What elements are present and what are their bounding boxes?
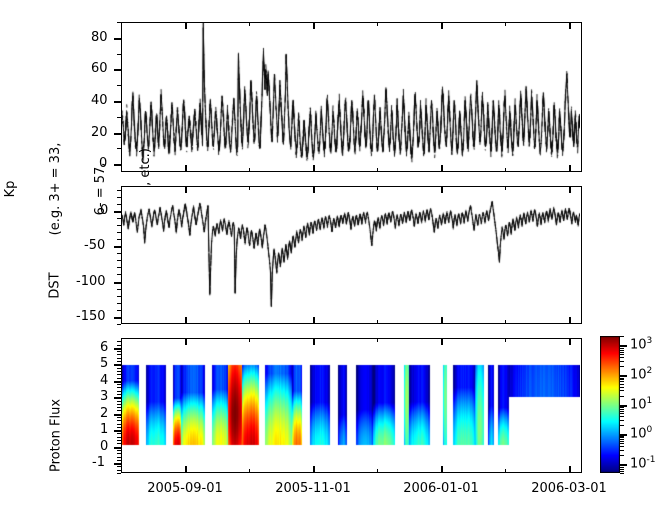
kp-tick-label: 60	[91, 61, 108, 76]
flux-x-minor-tick-bottom	[249, 469, 250, 473]
colorbar-minor-tick	[620, 348, 624, 349]
flux-minor-tick	[117, 417, 121, 418]
dst-x-minor-tick-bottom	[377, 320, 378, 324]
dst-x-major-tick-bottom	[185, 317, 187, 324]
dst-x-major-tick-top	[569, 186, 571, 193]
x-axis-tick-label: 2005-09-01	[141, 481, 229, 496]
flux-major-tick	[114, 414, 121, 416]
flux-tick-label: 6	[100, 340, 108, 355]
kp-major-tick	[114, 69, 121, 71]
kp-major-tick	[114, 164, 121, 166]
colorbar-minor-tick	[620, 455, 624, 456]
colorbar-label-exponent: 3	[647, 336, 653, 346]
flux-minor-tick	[117, 354, 121, 355]
flux-minor-tick	[117, 368, 121, 369]
flux-minor-tick	[117, 371, 121, 372]
colorbar-label-mantissa: 10	[630, 456, 647, 471]
colorbar-minor-tick	[620, 416, 624, 417]
proton-flux-canvas	[122, 339, 580, 471]
dst-x-minor-tick-bottom	[505, 320, 506, 324]
flux-x-minor-tick-bottom	[377, 469, 378, 473]
flux-tick-label: 2	[100, 406, 108, 421]
colorbar-minor-tick	[620, 381, 624, 382]
flux-x-minor-tick-top	[249, 338, 250, 342]
flux-minor-tick	[117, 358, 121, 359]
colorbar-label-exponent: 2	[647, 366, 653, 376]
dst-x-minor-tick-top	[505, 186, 506, 190]
flux-x-minor-tick-top	[377, 338, 378, 342]
dst-minor-tick	[117, 253, 121, 254]
dst-axis-label-text: DST	[48, 256, 63, 316]
dst-x-major-tick-bottom	[569, 317, 571, 324]
flux-major-tick	[114, 397, 121, 399]
colorbar-minor-tick	[620, 384, 624, 385]
dst-tick-label: -50	[84, 238, 105, 253]
colorbar-minor-tick	[620, 387, 624, 388]
colorbar-tick-label: 102	[630, 366, 652, 382]
flux-minor-tick	[117, 374, 121, 375]
kp-x-major-tick-top	[313, 22, 315, 29]
panel-kp	[121, 22, 582, 172]
figure-canvas: Kp (e.g. 3+ = 33, 6- = 57, 4 = 40, etc.)…	[0, 0, 665, 523]
flux-minor-tick	[117, 401, 121, 402]
flux-major-tick	[114, 447, 121, 449]
flux-major-tick	[114, 430, 121, 432]
colorbar-minor-tick	[620, 443, 624, 444]
flux-x-major-tick-bottom	[313, 466, 315, 473]
colorbar-minor-tick	[620, 336, 624, 337]
flux-x-minor-tick-top	[505, 338, 506, 342]
kp-x-minor-tick-bottom	[505, 168, 506, 172]
dst-x-minor-tick-bottom	[121, 320, 122, 324]
x-axis-tick-label: 2006-01-01	[397, 481, 485, 496]
flux-minor-tick	[117, 394, 121, 395]
dst-minor-tick	[117, 274, 121, 275]
dst-x-major-tick-bottom	[441, 317, 443, 324]
colorbar-minor-tick	[620, 441, 624, 442]
flux-minor-tick	[117, 410, 121, 411]
flux-x-minor-tick-bottom	[505, 469, 506, 473]
colorbar-minor-tick	[620, 378, 624, 379]
colorbar-minor-tick	[620, 411, 624, 412]
flux-major-tick	[114, 381, 121, 383]
kp-x-major-tick-top	[185, 22, 187, 29]
colorbar-label-exponent: 0	[647, 425, 653, 435]
colorbar-tick-label: 103	[630, 336, 652, 352]
dst-x-minor-tick-bottom	[249, 320, 250, 324]
dst-major-tick	[114, 246, 121, 248]
flux-minor-tick	[117, 387, 121, 388]
kp-x-minor-tick-top	[377, 22, 378, 26]
colorbar-frame	[600, 336, 620, 473]
dst-x-major-tick-top	[441, 186, 443, 193]
dst-plot-canvas	[122, 187, 580, 322]
dst-minor-tick	[117, 260, 121, 261]
colorbar-minor-tick	[620, 366, 624, 367]
kp-x-major-tick-bottom	[313, 165, 315, 172]
colorbar-tick-label: 101	[630, 396, 652, 412]
dst-major-tick	[114, 211, 121, 213]
flux-x-major-tick-bottom	[441, 466, 443, 473]
flux-tick-label: -1	[92, 455, 105, 470]
colorbar-tick-label: 100	[630, 425, 652, 441]
dst-minor-tick	[117, 239, 121, 240]
dst-x-minor-tick-top	[121, 186, 122, 190]
flux-minor-tick	[117, 351, 121, 352]
colorbar-minor-tick	[620, 350, 624, 351]
dst-x-minor-tick-top	[377, 186, 378, 190]
colorbar-minor-tick	[620, 390, 624, 391]
dst-minor-tick	[117, 197, 121, 198]
kp-x-major-tick-bottom	[441, 165, 443, 172]
flux-minor-tick	[117, 361, 121, 362]
dst-minor-tick	[117, 310, 121, 311]
flux-minor-tick	[117, 453, 121, 454]
colorbar-minor-tick	[620, 467, 624, 468]
flux-minor-tick	[117, 466, 121, 467]
kp-x-minor-tick-top	[249, 22, 250, 26]
colorbar-label-mantissa: 10	[630, 367, 647, 382]
kp-tick-label: 40	[91, 93, 108, 108]
dst-minor-tick	[117, 232, 121, 233]
kp-x-minor-tick-top	[505, 22, 506, 26]
dst-tick-label: -150	[76, 309, 106, 324]
kp-x-major-tick-bottom	[185, 165, 187, 172]
flux-minor-tick	[117, 457, 121, 458]
kp-axis-label-line1: Kp	[3, 104, 18, 274]
flux-major-tick	[114, 463, 121, 465]
colorbar-minor-tick	[620, 354, 624, 355]
flux-minor-tick	[117, 391, 121, 392]
flux-tick-label: 5	[100, 356, 108, 371]
colorbar-label-exponent: 1	[647, 396, 653, 406]
flux-minor-tick	[117, 473, 121, 474]
colorbar-minor-tick	[620, 361, 624, 362]
flux-x-major-tick-bottom	[185, 466, 187, 473]
dst-minor-tick	[117, 303, 121, 304]
colorbar-minor-tick	[620, 406, 624, 407]
colorbar-minor-tick	[620, 413, 624, 414]
flux-axis-label-text: Proton Flux	[49, 386, 64, 486]
kp-x-minor-tick-bottom	[249, 168, 250, 172]
kp-minor-tick	[117, 54, 121, 55]
flux-minor-tick	[117, 420, 121, 421]
kp-axis-label-line2: (e.g. 3+ = 33,	[48, 104, 63, 274]
panel-dst	[121, 186, 582, 324]
kp-minor-tick	[117, 148, 121, 149]
dst-minor-tick	[117, 267, 121, 268]
colorbar-minor-tick	[620, 346, 624, 347]
colorbar-minor-tick	[620, 473, 624, 474]
colorbar-minor-tick	[620, 471, 624, 472]
colorbar-label-mantissa: 10	[630, 397, 647, 412]
colorbar-minor-tick	[620, 465, 624, 466]
kp-tick-label: 20	[91, 125, 108, 140]
kp-x-major-tick-bottom	[569, 165, 571, 172]
colorbar-minor-tick	[620, 436, 624, 437]
kp-plot-canvas	[122, 23, 580, 170]
colorbar-gradient	[600, 336, 620, 473]
flux-tick-label: 4	[100, 373, 108, 388]
dst-x-major-tick-top	[185, 186, 187, 193]
dst-tick-label: -100	[76, 274, 106, 289]
colorbar-minor-tick	[620, 425, 624, 426]
flux-minor-tick	[117, 460, 121, 461]
kp-x-major-tick-top	[441, 22, 443, 29]
x-axis-tick-label: 2006-03-01	[525, 481, 613, 496]
kp-x-minor-tick-top	[121, 22, 122, 26]
colorbar-label-mantissa: 10	[630, 426, 647, 441]
colorbar-minor-tick	[620, 469, 624, 470]
flux-minor-tick	[117, 440, 121, 441]
dst-tick-label: 0	[100, 203, 108, 218]
flux-tick-label: 0	[100, 439, 108, 454]
kp-x-major-tick-top	[569, 22, 571, 29]
flux-minor-tick	[117, 345, 121, 346]
dst-major-tick	[114, 282, 121, 284]
colorbar-minor-tick	[620, 450, 624, 451]
flux-minor-tick	[117, 443, 121, 444]
colorbar-minor-tick	[620, 357, 624, 358]
colorbar-minor-tick	[620, 376, 624, 377]
dst-minor-tick	[117, 225, 121, 226]
colorbar-minor-tick	[620, 352, 624, 353]
colorbar-tick-label: 10-1	[630, 455, 656, 471]
flux-tick-label: 3	[100, 389, 108, 404]
flux-x-major-tick-top	[185, 338, 187, 345]
kp-tick-label: 80	[91, 30, 108, 45]
kp-tick-label: 0	[99, 156, 107, 171]
flux-x-major-tick-bottom	[569, 466, 571, 473]
dst-minor-tick	[117, 190, 121, 191]
kp-major-tick	[114, 101, 121, 103]
flux-minor-tick	[117, 424, 121, 425]
flux-minor-tick	[117, 407, 121, 408]
flux-x-minor-tick-bottom	[121, 469, 122, 473]
dst-major-tick	[114, 317, 121, 319]
colorbar-minor-tick	[620, 446, 624, 447]
flux-tick-label: 1	[100, 422, 108, 437]
flux-axis-label: Proton Flux	[19, 386, 94, 486]
colorbar-label-mantissa: 10	[630, 337, 647, 352]
flux-minor-tick	[117, 450, 121, 451]
flux-major-tick	[114, 348, 121, 350]
flux-minor-tick	[117, 433, 121, 434]
dst-minor-tick	[117, 204, 121, 205]
kp-x-minor-tick-bottom	[121, 168, 122, 172]
dst-minor-tick	[117, 324, 121, 325]
kp-major-tick	[114, 38, 121, 40]
colorbar-minor-tick	[620, 409, 624, 410]
kp-minor-tick	[117, 117, 121, 118]
flux-x-minor-tick-top	[121, 338, 122, 342]
colorbar-minor-tick	[620, 439, 624, 440]
kp-major-tick	[114, 133, 121, 135]
x-axis-tick-label: 2005-11-01	[269, 481, 357, 496]
dst-x-minor-tick-top	[249, 186, 250, 190]
kp-x-minor-tick-bottom	[377, 168, 378, 172]
flux-major-tick	[114, 364, 121, 366]
flux-x-major-tick-top	[441, 338, 443, 345]
dst-minor-tick	[117, 218, 121, 219]
dst-x-major-tick-top	[313, 186, 315, 193]
dst-x-major-tick-bottom	[313, 317, 315, 324]
flux-x-major-tick-top	[313, 338, 315, 345]
dst-minor-tick	[117, 296, 121, 297]
flux-minor-tick	[117, 384, 121, 385]
flux-minor-tick	[117, 427, 121, 428]
flux-x-major-tick-top	[569, 338, 571, 345]
colorbar-label-exponent: -1	[647, 455, 656, 465]
flux-minor-tick	[117, 378, 121, 379]
flux-minor-tick	[117, 437, 121, 438]
colorbar-minor-tick	[620, 396, 624, 397]
colorbar-minor-tick	[620, 420, 624, 421]
kp-minor-tick	[117, 85, 121, 86]
flux-minor-tick	[117, 404, 121, 405]
dst-minor-tick	[117, 289, 121, 290]
panel-proton-flux	[121, 338, 582, 473]
